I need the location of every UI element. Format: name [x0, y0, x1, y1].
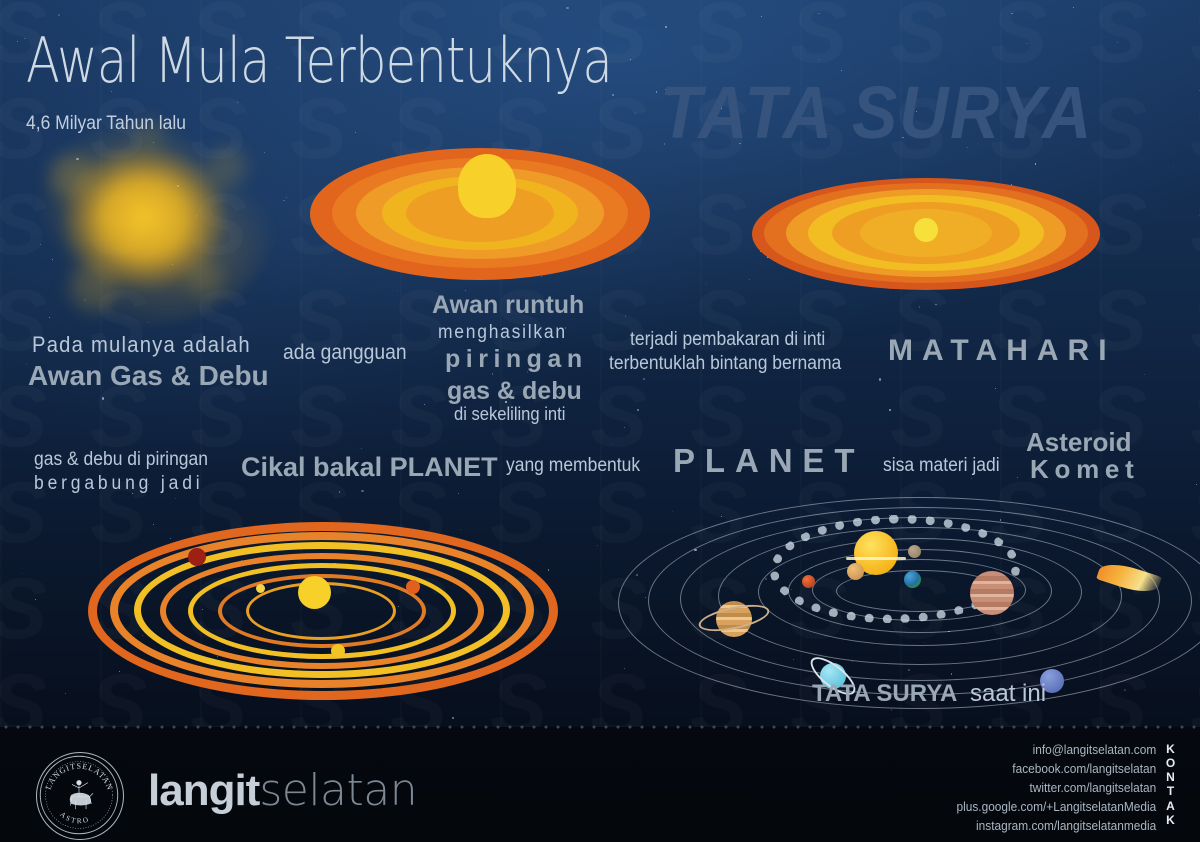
star — [612, 94, 614, 96]
protoplanet-orange — [406, 580, 420, 594]
star — [566, 7, 568, 9]
protosun — [298, 576, 331, 609]
kontak-letter-k2: K — [1164, 813, 1178, 827]
star — [1027, 43, 1028, 44]
contact-instagram[interactable]: instagram.com/langitselatanmedia — [956, 817, 1156, 836]
star — [1144, 374, 1145, 375]
contact-facebook[interactable]: facebook.com/langitselatan — [956, 760, 1156, 779]
subtitle-date: 4,6 Milyar Tahun lalu — [26, 113, 186, 135]
infographic-poster: SSSSSSSSSSSSSSSSSSSSSSSSSSSSSSSSSSSSSSSS… — [0, 0, 1200, 842]
step4-label-matahari: MATAHARI — [888, 334, 1116, 369]
kontak-letter-k1: K — [1164, 742, 1178, 756]
step5-line1: gas & debu di piringan — [34, 449, 208, 471]
watermark-letter: S — [1190, 182, 1200, 268]
kontak-letter-a: A — [1164, 799, 1178, 813]
star — [625, 315, 626, 316]
illustration-star-ignition-disk — [752, 178, 1100, 290]
contact-googleplus[interactable]: plus.google.com/+LangitselatanMedia — [956, 798, 1156, 817]
jupiter — [970, 571, 1014, 615]
kontak-letter-o: O — [1164, 756, 1178, 770]
star — [611, 444, 612, 445]
step3-line5: di sekeliling inti — [454, 404, 565, 425]
contact-twitter[interactable]: twitter.com/langitselatan — [956, 779, 1156, 798]
star — [22, 573, 23, 574]
watermark-letter: S — [390, 374, 447, 460]
footer-divider — [0, 725, 1200, 729]
step6-label-planet: PLANET — [673, 442, 864, 480]
mars — [802, 575, 815, 588]
venus — [847, 563, 864, 580]
title-accent: TATA SURYA — [660, 70, 1093, 155]
star — [597, 545, 598, 546]
watermark-letter: S — [1190, 86, 1200, 172]
step3-line2: menghasilkan — [438, 322, 567, 344]
watermark-letter: S — [0, 566, 47, 652]
step4-line2: terbentuklah bintang bernama — [609, 353, 841, 375]
star — [879, 378, 881, 380]
star — [1035, 163, 1036, 164]
star — [339, 491, 340, 492]
star — [17, 41, 18, 42]
watermark-letter: S — [1190, 278, 1200, 364]
kontak-letter-t: T — [1164, 784, 1178, 798]
step3-line1: Awan runtuh — [432, 291, 584, 320]
star — [624, 427, 625, 428]
illustration-planet-formation-orbits — [88, 522, 558, 700]
watermark-letter: S — [290, 374, 347, 460]
star — [891, 709, 892, 710]
sun-flare — [846, 557, 906, 560]
watermark-letter: S — [790, 278, 847, 364]
solar-system-caption-light: saat ini — [970, 680, 1046, 707]
watermark-letter: S — [1190, 0, 1200, 76]
watermark-letter: S — [590, 470, 647, 556]
svg-text:ASTRO: ASTRO — [59, 811, 92, 826]
star — [761, 16, 762, 17]
star — [749, 279, 750, 280]
star — [26, 364, 27, 365]
watermark-letter: S — [1190, 374, 1200, 460]
step6-line1: yang membentuk — [506, 455, 640, 477]
star — [630, 59, 631, 60]
star — [65, 693, 66, 694]
protoplanet-small — [256, 584, 265, 593]
solar-system-caption-bold: TATA SURYA — [812, 680, 957, 707]
star — [397, 290, 398, 291]
brand-wordmark: langitselatan — [148, 765, 417, 816]
step5-line2: bergabung jadi — [34, 473, 204, 495]
star — [637, 409, 638, 410]
star — [35, 599, 36, 600]
kontak-vertical-label: K O N T A K — [1164, 742, 1178, 827]
star — [58, 14, 60, 16]
star — [935, 304, 936, 305]
step7-label-komet: Komet — [1030, 455, 1140, 485]
step3-line4: gas & debu — [447, 377, 582, 406]
star — [361, 490, 363, 492]
star — [656, 91, 657, 92]
star — [706, 283, 707, 284]
watermark-letter: S — [1090, 0, 1147, 76]
star — [1196, 484, 1197, 485]
star — [286, 197, 287, 198]
step2-line1: ada gangguan — [283, 341, 407, 365]
star — [1011, 13, 1012, 14]
star — [919, 306, 920, 307]
watermark-letter: S — [590, 278, 647, 364]
illustration-collapsing-disk — [310, 148, 650, 280]
star — [819, 59, 820, 60]
contact-email[interactable]: info@langitselatan.com — [956, 741, 1156, 760]
watermark-letter: S — [590, 374, 647, 460]
star — [643, 378, 645, 380]
step4-line1: terjadi pembakaran di inti — [630, 329, 825, 351]
watermark-letter: S — [790, 0, 847, 76]
step3-line3: piringan — [445, 345, 588, 374]
star — [355, 132, 356, 133]
protoplanet-red — [188, 548, 206, 566]
star — [624, 668, 625, 669]
mercury — [908, 545, 921, 558]
brand-bold: langit — [148, 766, 259, 815]
page-title: Awal Mula Terbentuknya — [26, 24, 612, 97]
star — [452, 717, 453, 718]
star — [424, 404, 425, 405]
star — [1117, 42, 1118, 43]
illustration-solar-system-today — [640, 505, 1200, 705]
star — [665, 26, 667, 28]
illustration-gas-dust-cloud — [24, 120, 274, 325]
star — [818, 13, 819, 14]
step1-line2: Awan Gas & Debu — [28, 360, 269, 392]
watermark-letter: S — [1090, 86, 1147, 172]
earth — [904, 571, 921, 588]
step7-line1: sisa materi jadi — [883, 455, 1000, 477]
star — [175, 498, 176, 499]
kontak-letter-n: N — [1164, 770, 1178, 784]
star — [995, 388, 996, 389]
brand-light: selatan — [259, 765, 417, 816]
star — [1017, 477, 1018, 478]
star — [889, 409, 891, 411]
watermark-letter: S — [690, 278, 747, 364]
watermark-letter: S — [690, 182, 747, 268]
solar-system-caption: TATA SURYA saat ini — [812, 680, 1046, 708]
watermark-letter: S — [890, 0, 947, 76]
star — [971, 478, 972, 479]
star — [635, 112, 636, 113]
star — [102, 397, 104, 399]
contact-list: info@langitselatan.com facebook.com/lang… — [956, 741, 1156, 836]
watermark-letter: S — [690, 0, 747, 76]
star — [237, 102, 238, 103]
star — [264, 152, 265, 153]
step1-line1: Pada mulanya adalah — [32, 332, 251, 357]
watermark-letter: S — [890, 374, 947, 460]
langitselatan-seal-logo: LANGITSELATAN ASTRO — [36, 752, 124, 840]
star — [1173, 166, 1174, 167]
star — [458, 493, 459, 494]
star — [361, 448, 362, 449]
watermark-letter: S — [990, 0, 1047, 76]
step5-label-cikal-bakal-planet: Cikal bakal PLANET — [241, 452, 498, 483]
star — [1073, 7, 1074, 8]
star — [49, 317, 50, 318]
protoplanet-yellow — [331, 644, 345, 658]
